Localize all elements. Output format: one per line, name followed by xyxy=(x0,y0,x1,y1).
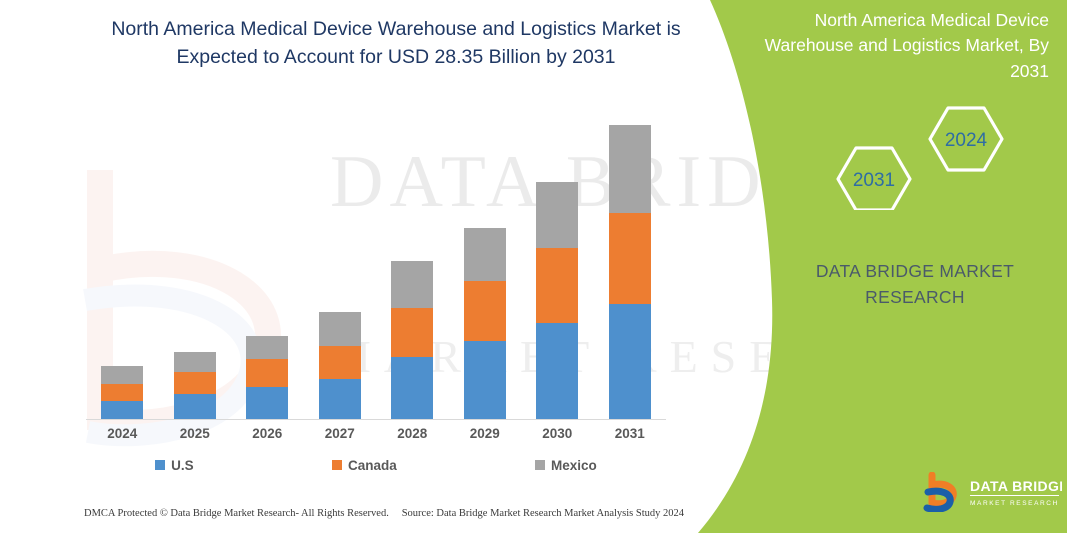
data-bridge-logo: DATA BRIDGE MARKET RESEARCH xyxy=(922,472,1062,512)
bar-segment-us xyxy=(391,357,433,419)
logo-secondary-text: MARKET RESEARCH xyxy=(970,500,1059,507)
bar-segment-canada xyxy=(609,213,651,304)
bar-chart-plot xyxy=(86,140,666,419)
hexagon-2031-label: 2031 xyxy=(853,170,895,191)
bar-segment-mexico xyxy=(609,125,651,213)
x-tick-label: 2026 xyxy=(231,426,303,448)
x-tick-label: 2029 xyxy=(449,426,521,448)
footer: DMCA Protected © Data Bridge Market Rese… xyxy=(84,508,684,519)
legend-item-canada[interactable]: Canada xyxy=(332,458,397,473)
hexagon-2024-label: 2024 xyxy=(945,130,988,151)
bar-column-2031 xyxy=(594,140,666,419)
chart-axis-line xyxy=(86,419,666,420)
brand-name: DATA BRIDGE MARKET RESEARCH xyxy=(790,258,1040,311)
bar-segment-mexico xyxy=(536,182,578,248)
x-tick-label: 2030 xyxy=(521,426,593,448)
infographic-canvas: DATA BRIDGE MARKET RESEARCH North Americ… xyxy=(0,0,1067,533)
bar-segment-us xyxy=(101,401,143,419)
bar-segment-us xyxy=(246,387,288,419)
brand-line-2: RESEARCH xyxy=(790,284,1040,310)
chart-legend: U.S Canada Mexico xyxy=(86,454,666,476)
bar-column-2030 xyxy=(521,140,593,419)
legend-swatch-icon xyxy=(155,460,165,470)
logo-primary-text: DATA BRIDGE xyxy=(970,478,1062,494)
x-tick-label: 2027 xyxy=(304,426,376,448)
bar-segment-us xyxy=(464,341,506,419)
bar-segment-canada xyxy=(536,248,578,323)
bar-segment-canada xyxy=(319,346,361,379)
side-panel-title: North America Medical Device Warehouse a… xyxy=(759,8,1049,84)
legend-label: Canada xyxy=(348,458,397,473)
hexagon-group: 2024 2031 xyxy=(820,95,1020,210)
stacked-bar[interactable] xyxy=(464,228,506,419)
legend-swatch-icon xyxy=(332,460,342,470)
bar-segment-canada xyxy=(464,281,506,341)
footer-copyright: DMCA Protected © Data Bridge Market Rese… xyxy=(84,508,389,519)
bar-segment-canada xyxy=(391,308,433,357)
legend-swatch-icon xyxy=(535,460,545,470)
stacked-bar[interactable] xyxy=(609,125,651,419)
bar-segment-us xyxy=(319,379,361,419)
bar-column-2028 xyxy=(376,140,448,419)
bar-segment-mexico xyxy=(174,352,216,372)
bar-segment-canada xyxy=(246,359,288,387)
legend-item-us[interactable]: U.S xyxy=(155,458,194,473)
bar-segment-canada xyxy=(174,372,216,394)
bar-column-2027 xyxy=(304,140,376,419)
bar-segment-mexico xyxy=(464,228,506,281)
bar-column-2029 xyxy=(449,140,521,419)
x-tick-label: 2024 xyxy=(86,426,158,448)
logo-mark-icon xyxy=(927,475,953,509)
bar-segment-us xyxy=(536,323,578,419)
stacked-bar[interactable] xyxy=(391,261,433,419)
stacked-bar[interactable] xyxy=(319,312,361,419)
stacked-bar[interactable] xyxy=(174,352,216,419)
bar-column-2025 xyxy=(159,140,231,419)
bar-segment-mexico xyxy=(246,336,288,359)
stacked-bar[interactable] xyxy=(246,336,288,419)
legend-label: Mexico xyxy=(551,458,597,473)
brand-line-1: DATA BRIDGE MARKET xyxy=(790,258,1040,284)
bar-segment-mexico xyxy=(319,312,361,346)
bar-segment-mexico xyxy=(101,366,143,384)
bar-segment-us xyxy=(174,394,216,419)
legend-item-mexico[interactable]: Mexico xyxy=(535,458,597,473)
footer-source: Source: Data Bridge Market Research Mark… xyxy=(402,508,684,519)
x-tick-label: 2031 xyxy=(594,426,666,448)
x-tick-label: 2028 xyxy=(376,426,448,448)
bar-column-2024 xyxy=(86,140,158,419)
x-tick-label: 2025 xyxy=(159,426,231,448)
bar-segment-mexico xyxy=(391,261,433,308)
x-axis-labels: 2024 2025 2026 2027 2028 2029 2030 2031 xyxy=(86,426,666,448)
stacked-bar[interactable] xyxy=(101,366,143,419)
bar-segment-canada xyxy=(101,384,143,401)
legend-label: U.S xyxy=(171,458,194,473)
stacked-bar[interactable] xyxy=(536,182,578,419)
page-title: North America Medical Device Warehouse a… xyxy=(96,16,696,71)
bar-segment-us xyxy=(609,304,651,419)
bar-column-2026 xyxy=(231,140,303,419)
